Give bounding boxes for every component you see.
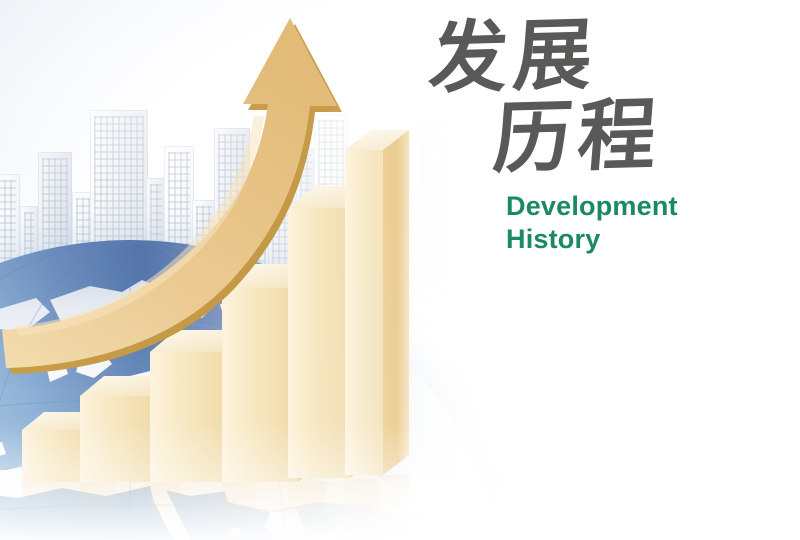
title-chinese-line1: 发展 — [427, 13, 784, 97]
development-history-banner: 发展 历程 Development History — [0, 0, 800, 540]
title-block: 发展 历程 Development History — [430, 18, 780, 256]
title-english: Development History — [506, 190, 780, 256]
title-english-line2: History — [506, 223, 780, 256]
title-english-line1: Development — [506, 190, 780, 223]
title-chinese-line2: 历程 — [491, 95, 784, 177]
